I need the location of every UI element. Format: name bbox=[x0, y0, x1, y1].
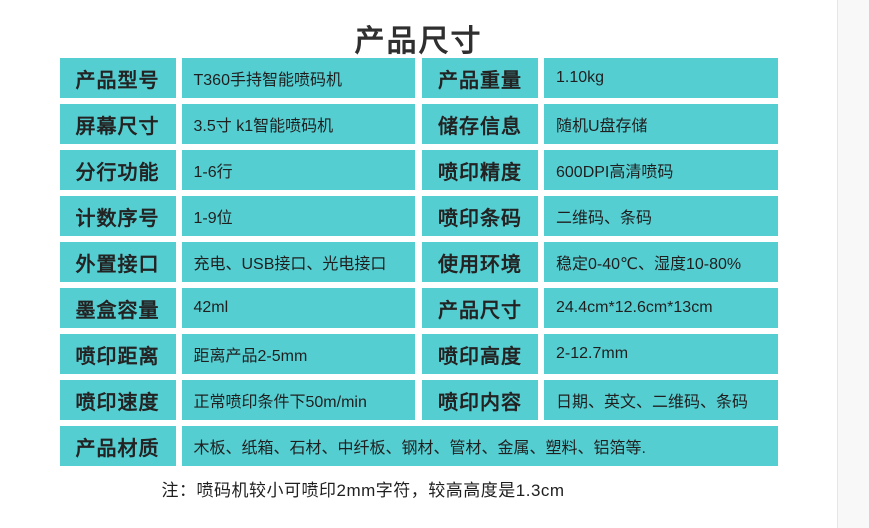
spec-pair-right: 喷印条码 二维码、条码 bbox=[422, 196, 778, 236]
spec-label: 储存信息 bbox=[422, 104, 538, 144]
spec-label: 产品重量 bbox=[422, 58, 538, 98]
spec-value: 24.4cm*12.6cm*13cm bbox=[544, 288, 778, 328]
column-gap bbox=[415, 288, 422, 328]
spec-pair-left: 分行功能 1-6行 bbox=[60, 150, 416, 190]
spec-pair-right: 使用环境 稳定0-40℃、湿度10-80% bbox=[422, 242, 778, 282]
spec-pair-left: 喷印速度 正常喷印条件下50m/min bbox=[60, 380, 416, 420]
table-row-material: 产品材质 木板、纸箱、石材、中纤板、钢材、管材、金属、塑料、铝箔等. bbox=[60, 426, 778, 466]
table-row: 计数序号 1-9位 喷印条码 二维码、条码 bbox=[60, 196, 778, 236]
column-gap bbox=[415, 58, 422, 98]
spec-table: 产品型号 T360手持智能喷码机 产品重量 1.10kg 屏幕尺寸 3.5寸 k… bbox=[60, 58, 778, 501]
column-gap bbox=[415, 104, 422, 144]
spec-pair-right: 储存信息 随机U盘存储 bbox=[422, 104, 778, 144]
column-gap bbox=[415, 334, 422, 374]
spec-value: T360手持智能喷码机 bbox=[182, 58, 416, 98]
spec-label: 喷印高度 bbox=[422, 334, 538, 374]
spec-pair-left: 计数序号 1-9位 bbox=[60, 196, 416, 236]
spec-pair-left: 屏幕尺寸 3.5寸 k1智能喷码机 bbox=[60, 104, 416, 144]
product-spec-sheet: 产品尺寸 产品型号 T360手持智能喷码机 产品重量 1.10kg 屏幕尺寸 3… bbox=[0, 0, 837, 528]
spec-pair-right: 喷印内容 日期、英文、二维码、条码 bbox=[422, 380, 778, 420]
table-row: 墨盒容量 42ml 产品尺寸 24.4cm*12.6cm*13cm bbox=[60, 288, 778, 328]
spec-value: 正常喷印条件下50m/min bbox=[182, 380, 416, 420]
spec-value: 稳定0-40℃、湿度10-80% bbox=[544, 242, 778, 282]
spec-value: 1.10kg bbox=[544, 58, 778, 98]
spec-pair-right: 喷印精度 600DPI高清喷码 bbox=[422, 150, 778, 190]
spec-value: 木板、纸箱、石材、中纤板、钢材、管材、金属、塑料、铝箔等. bbox=[182, 426, 778, 466]
spec-value: 2-12.7mm bbox=[544, 334, 778, 374]
spec-value: 42ml bbox=[182, 288, 416, 328]
spec-label: 喷印精度 bbox=[422, 150, 538, 190]
spec-label: 墨盒容量 bbox=[60, 288, 176, 328]
spec-value: 600DPI高清喷码 bbox=[544, 150, 778, 190]
spec-label: 喷印内容 bbox=[422, 380, 538, 420]
spec-label: 产品材质 bbox=[60, 426, 176, 466]
table-row: 分行功能 1-6行 喷印精度 600DPI高清喷码 bbox=[60, 150, 778, 190]
page-gutter bbox=[837, 0, 869, 528]
spec-label: 产品尺寸 bbox=[422, 288, 538, 328]
table-row: 产品型号 T360手持智能喷码机 产品重量 1.10kg bbox=[60, 58, 778, 98]
spec-label: 外置接口 bbox=[60, 242, 176, 282]
spec-label: 喷印条码 bbox=[422, 196, 538, 236]
table-row: 屏幕尺寸 3.5寸 k1智能喷码机 储存信息 随机U盘存储 bbox=[60, 104, 778, 144]
spec-pair-right: 产品重量 1.10kg bbox=[422, 58, 778, 98]
spec-value: 二维码、条码 bbox=[544, 196, 778, 236]
table-row: 外置接口 充电、USB接口、光电接口 使用环境 稳定0-40℃、湿度10-80% bbox=[60, 242, 778, 282]
spec-value: 1-6行 bbox=[182, 150, 416, 190]
spec-pair-right: 喷印高度 2-12.7mm bbox=[422, 334, 778, 374]
spec-value: 随机U盘存储 bbox=[544, 104, 778, 144]
column-gap bbox=[415, 196, 422, 236]
spec-value: 日期、英文、二维码、条码 bbox=[544, 380, 778, 420]
spec-pair-right: 产品尺寸 24.4cm*12.6cm*13cm bbox=[422, 288, 778, 328]
spec-value: 充电、USB接口、光电接口 bbox=[182, 242, 416, 282]
spec-value: 3.5寸 k1智能喷码机 bbox=[182, 104, 416, 144]
table-row: 喷印速度 正常喷印条件下50m/min 喷印内容 日期、英文、二维码、条码 bbox=[60, 380, 778, 420]
spec-value: 1-9位 bbox=[182, 196, 416, 236]
footnote: 注：喷码机较小可喷印2mm字符，较高高度是1.3cm bbox=[60, 476, 778, 501]
column-gap bbox=[415, 242, 422, 282]
spec-pair-left: 外置接口 充电、USB接口、光电接口 bbox=[60, 242, 416, 282]
spec-label: 喷印距离 bbox=[60, 334, 176, 374]
page-title: 产品尺寸 bbox=[0, 0, 837, 42]
column-gap bbox=[415, 380, 422, 420]
spec-label: 计数序号 bbox=[60, 196, 176, 236]
spec-pair-left: 喷印距离 距离产品2-5mm bbox=[60, 334, 416, 374]
table-row: 喷印距离 距离产品2-5mm 喷印高度 2-12.7mm bbox=[60, 334, 778, 374]
spec-value: 距离产品2-5mm bbox=[182, 334, 416, 374]
spec-label: 分行功能 bbox=[60, 150, 176, 190]
spec-pair-left: 墨盒容量 42ml bbox=[60, 288, 416, 328]
spec-label: 使用环境 bbox=[422, 242, 538, 282]
spec-label: 屏幕尺寸 bbox=[60, 104, 176, 144]
column-gap bbox=[415, 150, 422, 190]
spec-label: 喷印速度 bbox=[60, 380, 176, 420]
spec-pair-left: 产品型号 T360手持智能喷码机 bbox=[60, 58, 416, 98]
spec-label: 产品型号 bbox=[60, 58, 176, 98]
